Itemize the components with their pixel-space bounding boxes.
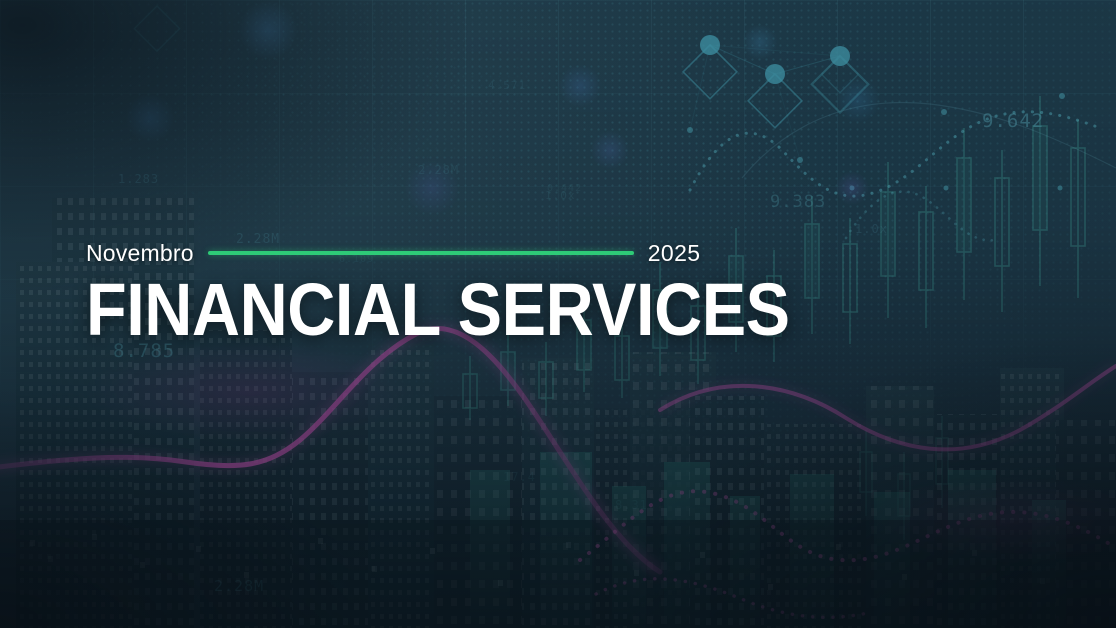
ticker-value: 4.571 [488, 79, 526, 92]
title-slide: 9.6429.3838.7852.28M2.28M2.28M1.0x1.0x4.… [0, 0, 1116, 628]
ticker-value: 9.642 [982, 110, 1044, 132]
ticker-value: 1.0x [855, 222, 888, 236]
ticker-value: 2.28M [214, 577, 264, 595]
eyebrow-month: Novembro [86, 240, 194, 267]
ticker-value: 17.4 [503, 470, 536, 484]
ticker-value: 8.31 [615, 498, 648, 512]
eyebrow-year: 2025 [648, 240, 701, 267]
ticker-value: 1.283 [118, 172, 159, 186]
accent-divider-rule [208, 251, 634, 255]
ticker-value: 1.0x [545, 189, 576, 202]
title-block: Novembro 2025 FINANCIAL SERVICES [86, 238, 1046, 345]
page-title: FINANCIAL SERVICES [86, 274, 950, 345]
eyebrow-row: Novembro 2025 [86, 238, 1046, 268]
ticker-value: 2.28M [418, 163, 459, 177]
ticker-value: 0.442 [547, 183, 582, 194]
ticker-value: 9.383 [770, 192, 826, 212]
